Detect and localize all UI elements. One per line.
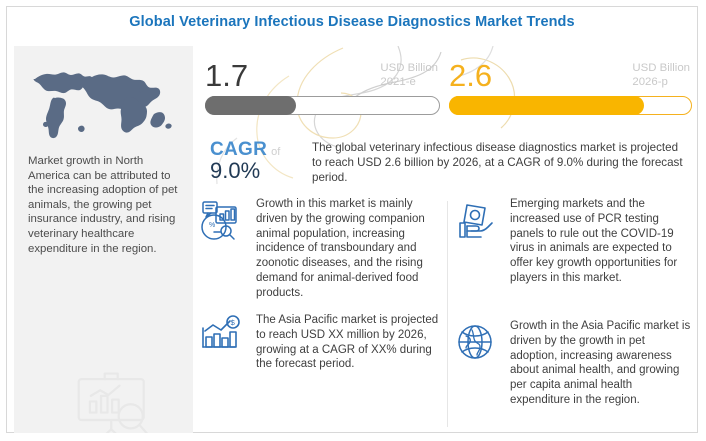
world-map-icon	[26, 62, 182, 144]
insight-text-4: Growth in the Asia Pacific market is dri…	[510, 319, 694, 408]
metric-bar-2026	[449, 96, 692, 115]
insight-card-3: Emerging markets and the increased use o…	[454, 197, 694, 286]
metric-unit-2026: USD Billion 2026-p	[632, 62, 690, 89]
metric-unit-2021: USD Billion 2021-e	[380, 62, 438, 89]
cagr-label: CAGR	[210, 139, 267, 160]
presentation-chart-magnifier-icon	[66, 368, 162, 433]
insight-card-4: Growth in the Asia Pacific market is dri…	[454, 319, 694, 408]
globe-icon	[454, 321, 500, 365]
insight-text-3: Emerging markets and the increased use o…	[510, 197, 694, 286]
metric-2026: 2.6 USD Billion 2026-p	[449, 59, 692, 115]
cagr-block: CAGRof 9.0%	[210, 139, 310, 182]
insight-card-2: $ The Asia Pacific market is projected t…	[200, 313, 440, 372]
infographic-frame: Global Veterinary Infectious Disease Dia…	[6, 6, 698, 433]
growth-bar-chart-dollar-icon: $	[200, 315, 246, 359]
region-description: Market growth in North America can be at…	[28, 154, 184, 256]
metric-bar-fill-2021	[205, 96, 296, 115]
lead-paragraph: The global veterinary infectious disease…	[312, 140, 688, 186]
metric-unit-line1: USD Billion	[632, 62, 690, 76]
metric-2021: 1.7 USD Billion 2021-e	[205, 59, 440, 115]
insights-grid: % Growth in this market is mainly driven…	[200, 195, 694, 433]
hand-holding-money-icon	[454, 199, 500, 243]
cagr-value: 9.0%	[210, 159, 310, 182]
metric-unit-line2: 2021-e	[380, 76, 438, 90]
metric-bar-fill-2026	[449, 96, 644, 115]
insight-text-2: The Asia Pacific market is projected to …	[256, 313, 440, 372]
insight-text-1: Growth in this market is mainly driven b…	[256, 197, 440, 301]
metric-unit-line1: USD Billion	[380, 62, 438, 76]
page-title: Global Veterinary Infectious Disease Dia…	[7, 14, 697, 30]
market-analysis-icon: %	[200, 199, 246, 243]
cagr-of-label: of	[271, 146, 280, 158]
svg-text:$: $	[231, 318, 236, 327]
grid-vertical-divider	[447, 201, 448, 427]
insight-card-1: % Growth in this market is mainly driven…	[200, 197, 440, 301]
svg-text:%: %	[209, 222, 215, 229]
region-panel: NORTH AMERICA Market growth in North Ame…	[14, 46, 193, 433]
metric-bar-2021	[205, 96, 440, 115]
metric-unit-line2: 2026-p	[632, 76, 690, 90]
